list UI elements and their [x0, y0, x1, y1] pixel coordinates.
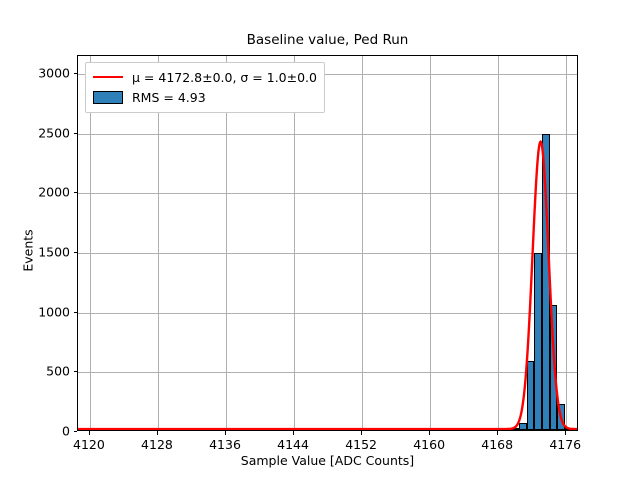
fit-line-path [78, 142, 577, 429]
x-tick-label: 4120 [73, 437, 105, 452]
legend-label-rms: RMS = 4.93 [132, 90, 206, 105]
x-tick-mark [361, 431, 362, 435]
chart-legend: μ = 4172.8±0.0, σ = 1.0±0.0 RMS = 4.93 [85, 62, 325, 113]
legend-item-fit: μ = 4172.8±0.0, σ = 1.0±0.0 [93, 67, 317, 87]
legend-line-swatch-icon [93, 76, 123, 78]
x-tick-mark [157, 431, 158, 435]
x-tick-label: 4128 [141, 437, 173, 452]
y-tick-mark [74, 431, 78, 432]
y-tick-label: 0 [15, 424, 70, 439]
x-tick-label: 4152 [345, 437, 377, 452]
y-tick-mark [74, 371, 78, 372]
x-tick-label: 4160 [413, 437, 445, 452]
chart-figure: Baseline value, Ped Run 4120412841364144… [0, 0, 640, 480]
legend-label-fit: μ = 4172.8±0.0, σ = 1.0±0.0 [132, 70, 317, 85]
legend-item-rms: RMS = 4.93 [93, 87, 317, 107]
y-tick-mark [74, 192, 78, 193]
y-tick-mark [74, 252, 78, 253]
x-tick-label: 4168 [481, 437, 513, 452]
x-tick-mark [497, 431, 498, 435]
y-tick-mark [74, 73, 78, 74]
y-tick-mark [74, 312, 78, 313]
y-tick-label: 3000 [15, 65, 70, 80]
y-tick-label: 2000 [15, 185, 70, 200]
x-tick-mark [293, 431, 294, 435]
x-tick-label: 4176 [549, 437, 581, 452]
x-axis-label: Sample Value [ADC Counts] [77, 453, 578, 468]
chart-title: Baseline value, Ped Run [77, 32, 578, 48]
x-tick-mark [225, 431, 226, 435]
x-tick-mark [565, 431, 566, 435]
y-tick-label: 1000 [15, 304, 70, 319]
y-tick-label: 2500 [15, 125, 70, 140]
y-axis-label: Events [21, 201, 36, 301]
y-tick-mark [74, 133, 78, 134]
legend-patch-swatch-icon [93, 91, 123, 104]
x-tick-label: 4144 [277, 437, 309, 452]
x-tick-label: 4136 [209, 437, 241, 452]
y-tick-label: 500 [15, 364, 70, 379]
x-tick-mark [89, 431, 90, 435]
x-tick-mark [429, 431, 430, 435]
